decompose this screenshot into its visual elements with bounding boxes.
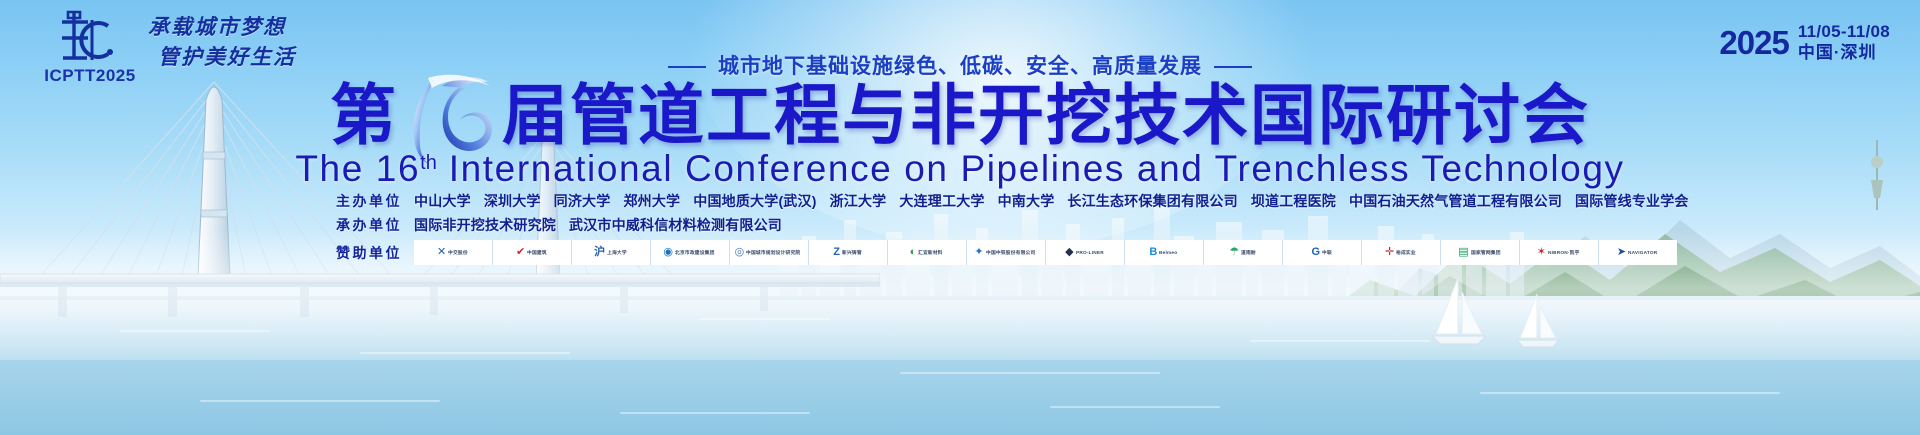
sponsor-glyph-icon: 沪 bbox=[594, 247, 605, 258]
english-title-prefix: The 16 bbox=[295, 148, 420, 189]
host-item: 中国石油天然气管道工程有限公司 bbox=[1349, 193, 1562, 209]
sponsor-name: 中交股份 bbox=[448, 250, 468, 256]
host-item: 长江生态环保集团有限公司 bbox=[1067, 193, 1237, 209]
sponsor-logo[interactable]: ◆PRO-LINER bbox=[1046, 240, 1125, 265]
sponsor-glyph-icon: G bbox=[1312, 247, 1321, 258]
sponsor-glyph-icon: ▤ bbox=[1458, 247, 1468, 258]
sponsor-name: PRO-LINER bbox=[1076, 250, 1104, 256]
sponsor-glyph-icon: B bbox=[1149, 247, 1157, 258]
page-title: 第 bbox=[0, 80, 1920, 152]
sponsor-name: 上海大学 bbox=[607, 250, 627, 256]
organizer-section: 主办单位 中山大学深圳大学同济大学郑州大学中国地质大学(武汉)浙江大学大连理工大… bbox=[336, 190, 1656, 267]
sponsor-logo[interactable]: ✔中国建筑 bbox=[493, 240, 572, 265]
sponsor-logo[interactable]: 沪上海大学 bbox=[572, 240, 651, 265]
title-suffix: 届管道工程与非开挖技术国际研讨会 bbox=[502, 78, 1590, 152]
host-item: 深圳大学 bbox=[484, 193, 541, 209]
sponsor-name: 道雨耐 bbox=[1241, 250, 1256, 256]
host-item: 国际管线专业学会 bbox=[1575, 193, 1689, 209]
coorganizer-list: 国际非开挖技术研究院武汉市中威科信材料检测有限公司 bbox=[414, 215, 795, 235]
english-title: The 16th International Conference on Pip… bbox=[0, 148, 1920, 190]
rule-left bbox=[668, 66, 706, 68]
sponsor-name: 中国建筑 bbox=[527, 250, 547, 256]
sponsor-glyph-icon: ◉ bbox=[663, 247, 673, 258]
host-label: 主办单位 bbox=[336, 191, 414, 211]
sponsor-name: NAVIGATOR bbox=[1628, 250, 1657, 256]
sponsor-logo[interactable]: ✕中交股份 bbox=[414, 240, 493, 265]
theme-subtitle-text: 城市地下基础设施绿色、低碳、安全、高质量发展 bbox=[718, 55, 1202, 78]
sponsor-logo[interactable]: BBelmeo bbox=[1125, 240, 1204, 265]
coorganizer-label: 承办单位 bbox=[336, 215, 414, 235]
sponsor-name: 汇宜新材料 bbox=[918, 250, 943, 256]
sponsor-name: 国家管网集团 bbox=[1471, 250, 1501, 256]
sponsor-glyph-icon: ➤ bbox=[1617, 247, 1626, 258]
sponsor-logo[interactable]: ☂道雨耐 bbox=[1204, 240, 1283, 265]
sponsor-glyph-icon: ✶ bbox=[1537, 247, 1546, 258]
sponsor-logo[interactable]: ▤国家管网集团 bbox=[1441, 240, 1520, 265]
host-item: 同济大学 bbox=[554, 193, 611, 209]
sponsor-name: 中国中铁股份有限公司 bbox=[986, 250, 1035, 256]
host-item: 浙江大学 bbox=[830, 193, 887, 209]
sponsor-name: 新兴铸管 bbox=[842, 250, 862, 256]
sponsor-name: Belmeo bbox=[1159, 250, 1177, 256]
sponsor-logo[interactable]: ✦中国中铁股份有限公司 bbox=[967, 240, 1046, 265]
sponsor-logo-strip: ✕中交股份 ✔中国建筑 沪上海大学 ◉北京市政建设集团 ◎中国城市规划设计研究院… bbox=[414, 240, 1677, 265]
host-list: 中山大学深圳大学同济大学郑州大学中国地质大学(武汉)浙江大学大连理工大学中南大学… bbox=[414, 191, 1702, 211]
sponsor-name: 北京市政建设集团 bbox=[675, 250, 715, 256]
english-title-suffix: International Conference on Pipelines an… bbox=[449, 148, 1625, 189]
sponsor-glyph-icon: ✔ bbox=[516, 247, 525, 258]
theme-subtitle: 城市地下基础设施绿色、低碳、安全、高质量发展 bbox=[0, 50, 1920, 80]
sponsor-glyph-icon: ✦ bbox=[974, 247, 983, 258]
sponsor-logo[interactable]: G中联 bbox=[1283, 240, 1362, 265]
sponsor-logo[interactable]: ✛裕成实业 bbox=[1362, 240, 1441, 265]
coorganizer-item: 武汉市中威科信材料检测有限公司 bbox=[569, 217, 782, 233]
host-item: 中南大学 bbox=[998, 193, 1055, 209]
english-title-ordinal: th bbox=[420, 152, 437, 174]
conference-banner: ICPTT2025 承载城市梦想 管护美好生活 2025 11/05-11/08… bbox=[0, 0, 1920, 435]
title-prefix: 第 bbox=[330, 78, 398, 152]
edition-number-16 bbox=[398, 86, 502, 152]
sponsor-name: 中联 bbox=[1322, 250, 1332, 256]
sponsor-name: 裕成实业 bbox=[1396, 250, 1416, 256]
organizer-row-coorganizer: 承办单位 国际非开挖技术研究院武汉市中威科信材料检测有限公司 bbox=[336, 214, 1656, 236]
organizer-row-host: 主办单位 中山大学深圳大学同济大学郑州大学中国地质大学(武汉)浙江大学大连理工大… bbox=[336, 190, 1656, 212]
host-item: 大连理工大学 bbox=[899, 193, 984, 209]
host-item: 中山大学 bbox=[414, 193, 471, 209]
sponsor-logo[interactable]: ✶NIBRON·凯宇 bbox=[1520, 240, 1599, 265]
sponsor-glyph-icon: ✕ bbox=[437, 247, 446, 258]
sponsor-logo[interactable]: ◐汇宜新材料 bbox=[888, 240, 967, 265]
sponsor-logo[interactable]: ◉北京市政建设集团 bbox=[651, 240, 730, 265]
host-item: 坝道工程医院 bbox=[1251, 193, 1336, 209]
organizer-row-sponsors: 赞助单位 ✕中交股份 ✔中国建筑 沪上海大学 ◉北京市政建设集团 ◎中国城市规划… bbox=[336, 240, 1656, 265]
sponsor-glyph-icon: ◎ bbox=[735, 247, 745, 258]
slogan-line-1: 承载城市梦想 bbox=[148, 12, 328, 42]
sponsor-glyph-icon: ☂ bbox=[1229, 247, 1239, 258]
sponsor-logo[interactable]: ◎中国城市规划设计研究院 bbox=[730, 240, 809, 265]
sponsor-logo[interactable]: ➤NAVIGATOR bbox=[1599, 240, 1677, 265]
event-dates: 11/05-11/08 bbox=[1798, 22, 1890, 43]
sponsor-name: NIBRON·凯宇 bbox=[1548, 250, 1580, 256]
sponsor-glyph-icon: Z bbox=[833, 247, 840, 258]
sponsor-glyph-icon: ✛ bbox=[1385, 247, 1394, 258]
sponsor-glyph-icon: ◆ bbox=[1065, 247, 1073, 258]
sponsor-logo[interactable]: Z新兴铸管 bbox=[809, 240, 888, 265]
sponsor-glyph-icon: ◐ bbox=[910, 247, 917, 258]
host-item: 中国地质大学(武汉) bbox=[693, 193, 816, 209]
host-item: 郑州大学 bbox=[623, 193, 680, 209]
sponsor-name: 中国城市规划设计研究院 bbox=[746, 250, 800, 256]
sponsor-label: 赞助单位 bbox=[336, 243, 414, 263]
rule-right bbox=[1214, 66, 1252, 68]
coorganizer-item: 国际非开挖技术研究院 bbox=[414, 217, 556, 233]
